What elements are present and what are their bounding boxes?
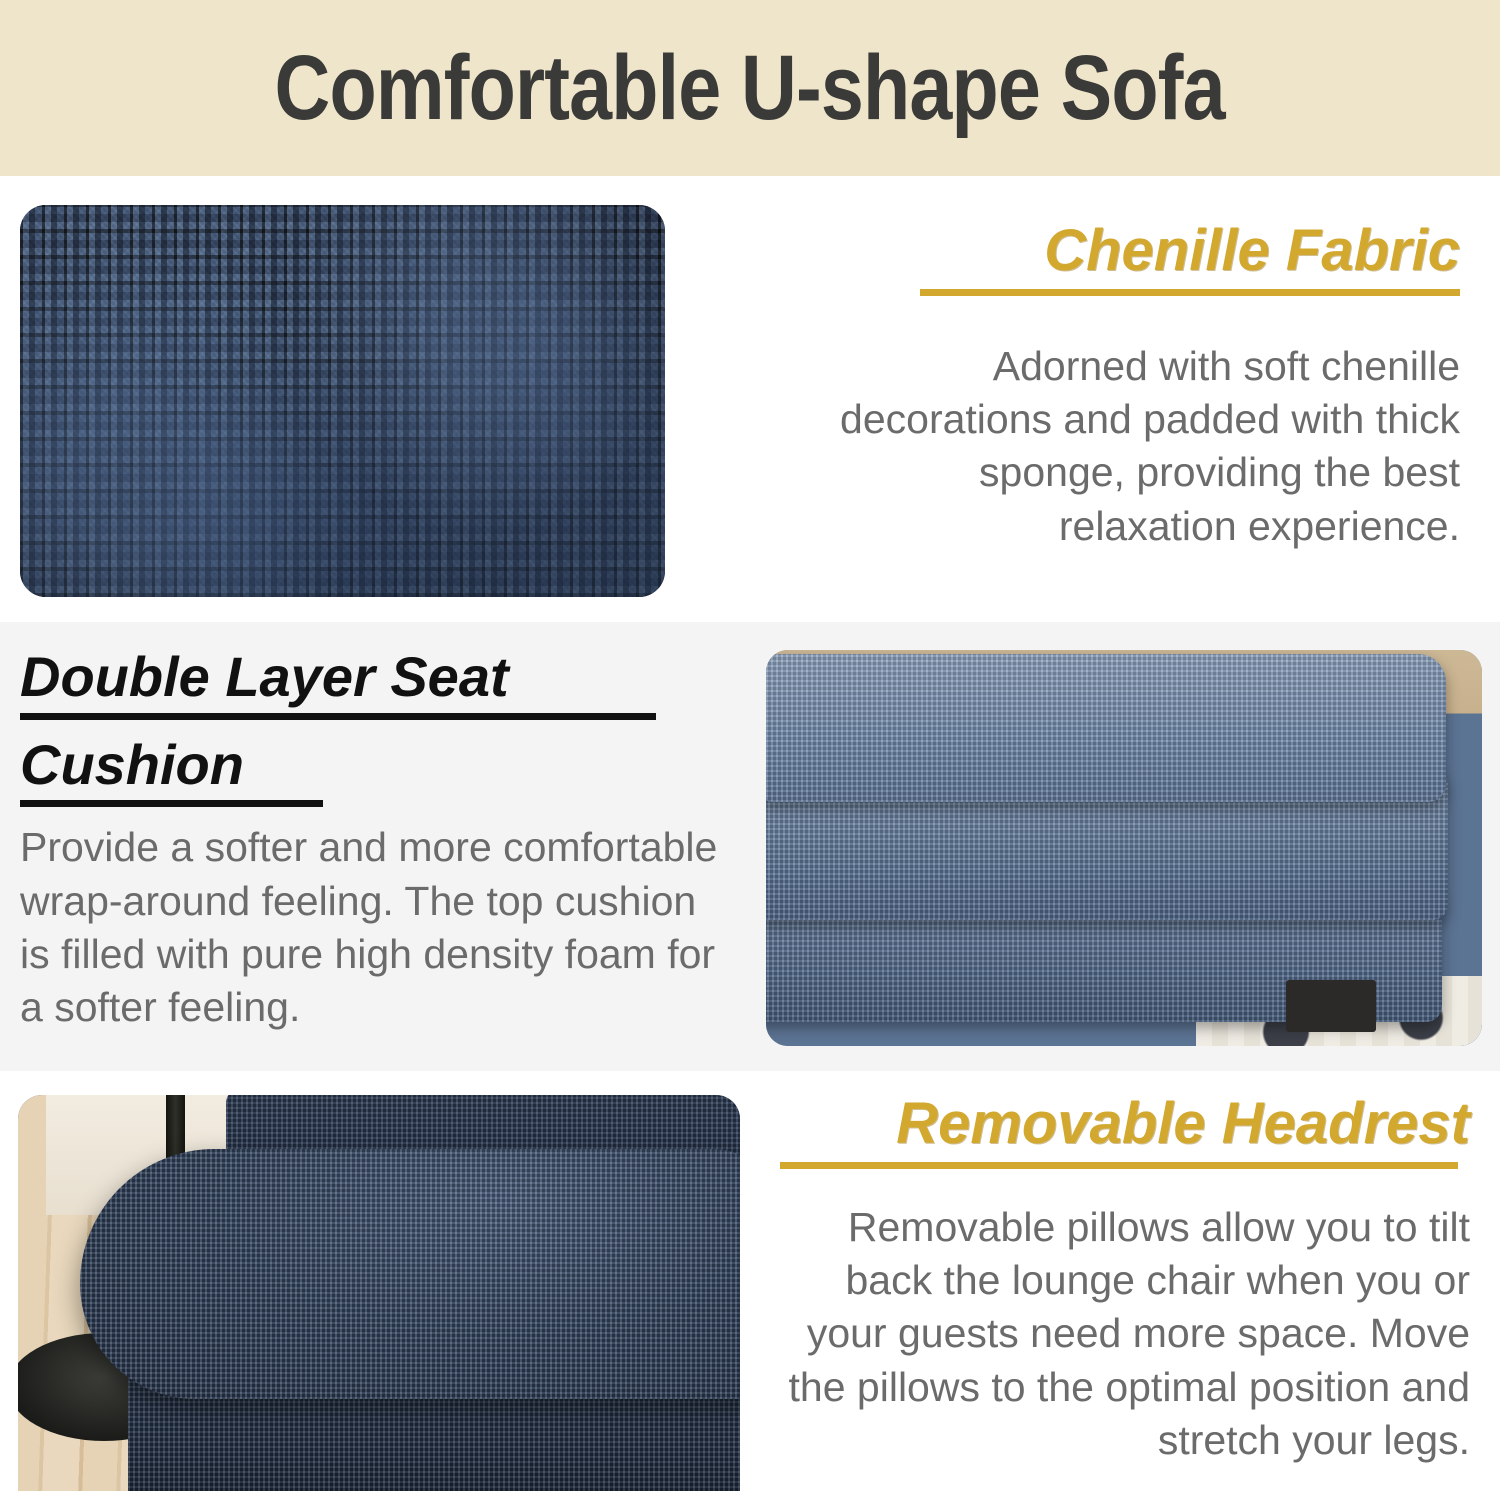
gold-underline-rule [920,289,1460,296]
chenille-fabric-body: Adorned with soft chenille decorations a… [800,340,1460,553]
gold-underline-rule [780,1162,1458,1169]
headrest-pillow [80,1149,740,1399]
chenille-fabric-image [20,205,665,597]
seat-cushion-heading: Double Layer Seat Cushion [20,646,720,807]
removable-headrest-heading-label: Removable Headrest [896,1091,1470,1156]
black-underline-rule-2 [20,800,323,807]
chenille-fabric-heading-label: Chenille Fabric [1044,218,1460,283]
removable-headrest-image [18,1095,740,1491]
header-banner: Comfortable U-shape Sofa [0,0,1500,176]
removable-headrest-heading: Removable Headrest [780,1093,1470,1169]
sofa-leg [1286,980,1376,1032]
fabric-weave-texture [20,205,665,597]
seat-cushion-text-block: Double Layer Seat Cushion Provide a soft… [20,646,720,1035]
seat-cushion-heading-line-2: Cushion [20,734,244,797]
seat-cushion-body: Provide a softer and more comfortable wr… [20,821,720,1034]
removable-headrest-text-block: Removable Headrest Removable pillows all… [780,1093,1470,1467]
seat-cushion-image [766,650,1482,1046]
section-double-layer-seat-cushion: Double Layer Seat Cushion Provide a soft… [0,622,1500,1071]
chenille-fabric-text-block: Chenille Fabric Adorned with soft chenil… [800,220,1460,553]
seat-cushion-heading-line-1: Double Layer Seat [20,646,509,709]
removable-headrest-body: Removable pillows allow you to tilt back… [780,1201,1470,1467]
page-title: Comfortable U-shape Sofa [275,42,1225,134]
cushion-layer-top [766,654,1446,802]
chenille-fabric-heading: Chenille Fabric [800,220,1460,296]
black-underline-rule-1 [20,713,656,720]
product-feature-infographic: Comfortable U-shape Sofa Chenille Fabric… [0,0,1500,1491]
section-chenille-fabric: Chenille Fabric Adorned with soft chenil… [0,176,1500,622]
section-removable-headrest: Removable Headrest Removable pillows all… [0,1071,1500,1491]
